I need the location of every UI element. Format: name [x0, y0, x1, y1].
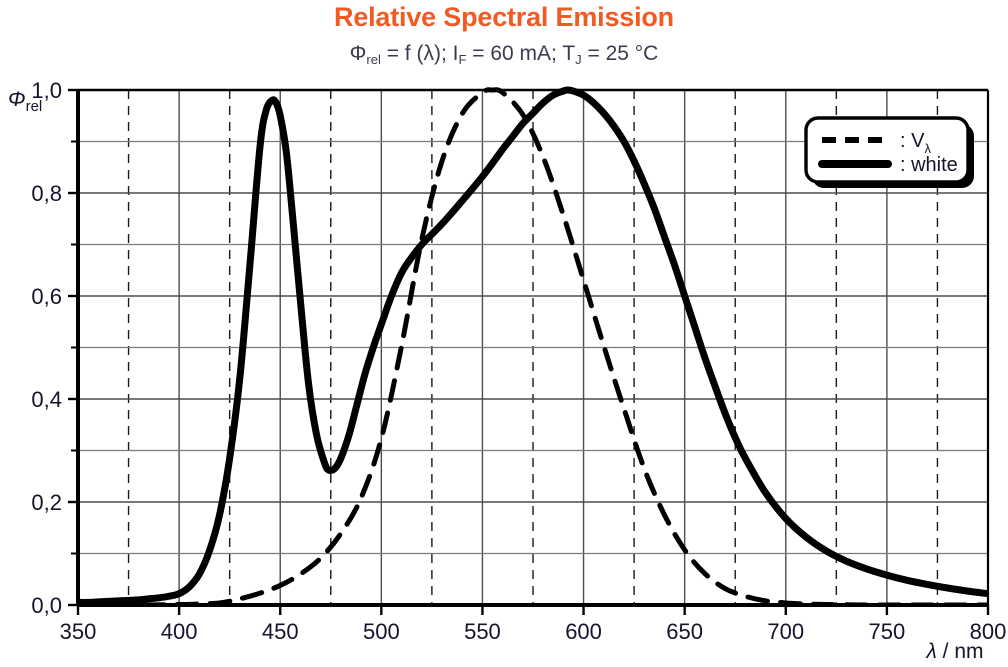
- subtitle-tail: = 25 °C: [582, 42, 659, 65]
- x-tick-label: 650: [666, 619, 703, 644]
- legend-box: : Vλ: white: [806, 118, 974, 188]
- y-tick-label: 0,2: [31, 490, 62, 515]
- x-tick-label: 750: [869, 619, 906, 644]
- chart-subtitle: Φrel = f (λ); IF = 60 mA; TJ = 25 °C: [0, 42, 1008, 66]
- x-tick-labels: 350400450500550600650700750800: [60, 619, 1007, 644]
- subtitle-mid: = f (λ); I: [381, 42, 459, 65]
- y-tick-labels: 0,00,20,40,60,81,0: [31, 78, 62, 618]
- x-tick-label: 600: [565, 619, 602, 644]
- x-tick-label: 700: [767, 619, 804, 644]
- y-tick-label: 0,6: [31, 284, 62, 309]
- y-tick-label: 0,0: [31, 593, 62, 618]
- x-tick-label: 500: [363, 619, 400, 644]
- subtitle-tj-sub: J: [575, 52, 582, 67]
- x-tick-label: 350: [60, 619, 97, 644]
- plot-svg: 350400450500550600650700750800 0,00,20,4…: [0, 0, 1008, 667]
- spectral-emission-chart: Relative Spectral Emission Φrel = f (λ);…: [0, 0, 1008, 667]
- subtitle-phi: Φ: [350, 42, 367, 65]
- subtitle-mid2: = 60 mA; T: [466, 42, 575, 65]
- x-tick-label: 550: [464, 619, 501, 644]
- y-tick-label: 0,4: [31, 387, 62, 412]
- legend-label-white: : white: [900, 154, 958, 176]
- x-axis-label: λ / nm: [925, 640, 983, 663]
- x-tick-label: 450: [262, 619, 299, 644]
- chart-title: Relative Spectral Emission: [0, 2, 1008, 33]
- subtitle-if-sub: F: [458, 52, 466, 67]
- y-tick-label: 0,8: [31, 181, 62, 206]
- x-tick-label: 400: [161, 619, 198, 644]
- subtitle-phi-sub: rel: [366, 52, 380, 67]
